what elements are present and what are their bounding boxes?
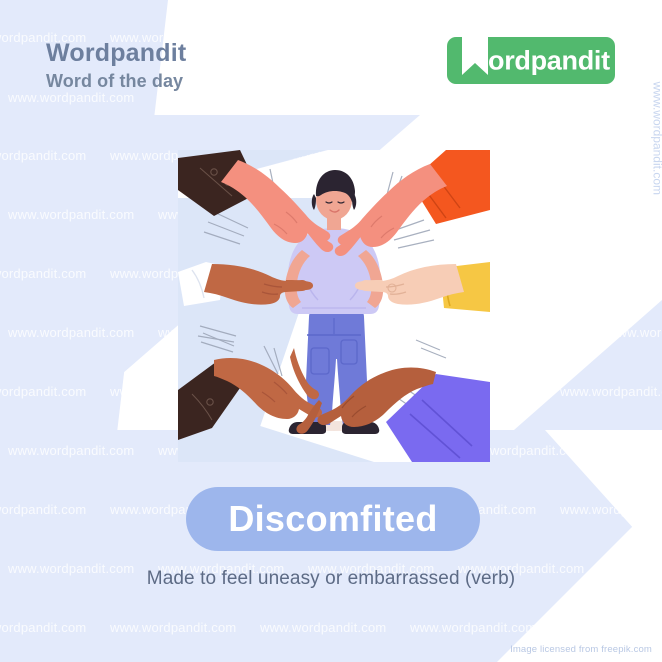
- word-term: Discomfited: [228, 498, 437, 540]
- word-definition: Made to feel uneasy or embarrassed (verb…: [0, 568, 662, 590]
- watermark-vertical: www.wordpandit.com: [650, 82, 662, 195]
- wordpandit-logo[interactable]: ordpandit: [447, 37, 615, 84]
- page-title: Wordpandit: [46, 40, 186, 68]
- image-credit: Image licensed from freepik.com: [510, 644, 652, 655]
- word-of-the-day-badge: Discomfited: [186, 487, 480, 551]
- word-of-the-day-card: www.wordpandit.comwww.wordpandit.comwww.…: [0, 0, 662, 662]
- illustration-pointing-hands: [178, 150, 490, 462]
- watermark-text: www.wordpandit.com: [8, 90, 134, 105]
- page-subtitle: Word of the day: [46, 71, 186, 92]
- brand-block: Wordpandit Word of the day: [46, 40, 186, 92]
- logo-label: ordpandit: [488, 45, 610, 76]
- bookmark-w-icon: [462, 29, 488, 75]
- watermark-text: www.wordpandit.com: [560, 384, 662, 399]
